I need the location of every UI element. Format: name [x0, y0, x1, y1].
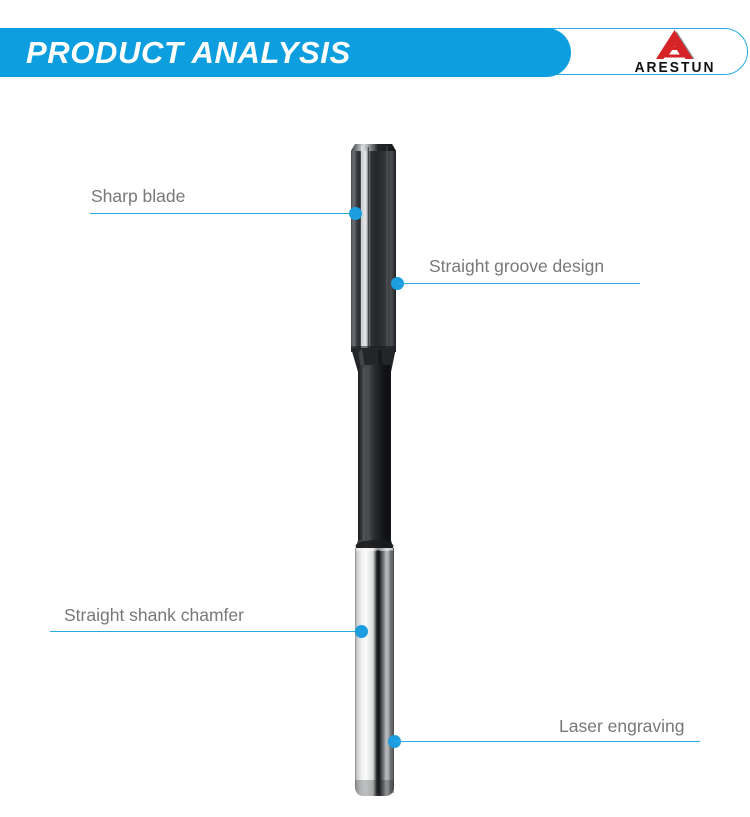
- callout-leader-line: [397, 283, 640, 284]
- product-image-reamer: [0, 0, 750, 817]
- callout-anchor-dot: [355, 625, 368, 638]
- triangle-a-logo-icon: [654, 29, 696, 60]
- callout-anchor-dot: [349, 207, 362, 220]
- callout-label-laser-engraving: Laser engraving: [559, 716, 685, 737]
- arestun-logo[interactable]: ARESTUN: [627, 28, 723, 78]
- callout-leader-line: [90, 213, 356, 214]
- logo-wordmark: ARESTUN: [631, 59, 719, 76]
- page-title: PRODUCT ANALYSIS: [26, 35, 351, 71]
- callout-label-straight-shank-chamfer: Straight shank chamfer: [64, 605, 244, 626]
- callout-label-sharp-blade: Sharp blade: [91, 186, 185, 207]
- title-pill: PRODUCT ANALYSIS: [0, 28, 571, 77]
- callout-leader-line: [50, 631, 362, 632]
- callout-leader-line: [394, 741, 700, 742]
- callout-label-straight-groove-design: Straight groove design: [429, 256, 604, 277]
